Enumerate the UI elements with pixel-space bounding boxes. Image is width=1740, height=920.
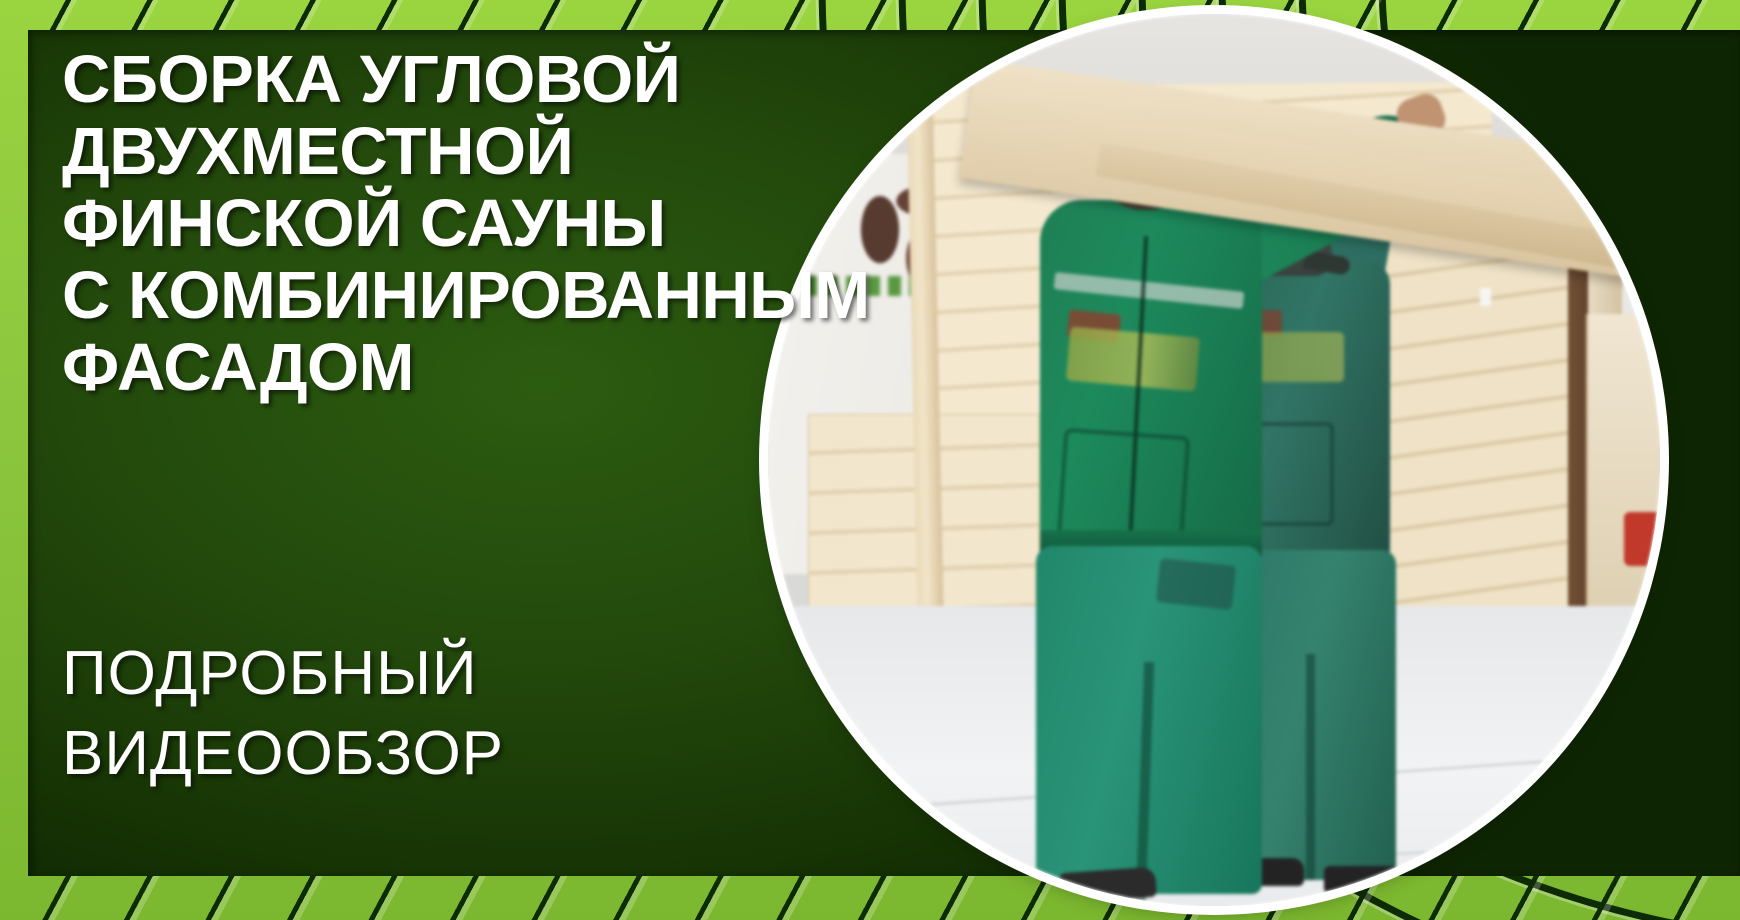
video-thumbnail-banner: СБОРКА УГЛОВОЙ ДВУХМЕСТНОЙ ФИНСКОЙ САУНЫ… <box>0 0 1740 920</box>
title-line-2: ДВУХМЕСТНОЙ <box>62 116 822 188</box>
photo-light-switch <box>1480 288 1491 306</box>
subtitle-line-1: ПОДРОБНЫЙ <box>62 634 762 714</box>
photo-worker2-leg-gap <box>1306 654 1315 880</box>
title-line-5: ФАСАДОМ <box>62 332 822 404</box>
circular-photo-frame <box>768 14 1660 906</box>
photo-worker2-shoe <box>1324 866 1404 894</box>
photo-worker1-logo <box>1066 326 1200 391</box>
subtitle-line-2: ВИДЕООБЗОР <box>62 714 762 794</box>
subtitle: ПОДРОБНЫЙ ВИДЕООБЗОР <box>62 634 762 794</box>
photo-worker1-back-pocket <box>1156 558 1236 610</box>
title-line-4: С КОМБИНИРОВАННЫМ <box>62 260 822 332</box>
photo-cabinet <box>1586 314 1660 614</box>
page-title: СБОРКА УГЛОВОЙ ДВУХМЕСТНОЙ ФИНСКОЙ САУНЫ… <box>62 44 822 404</box>
title-line-3: ФИНСКОЙ САУНЫ <box>62 188 822 260</box>
sauna-assembly-photo <box>768 14 1660 906</box>
title-line-1: СБОРКА УГЛОВОЙ <box>62 44 822 116</box>
photo-red-object <box>1624 512 1660 566</box>
